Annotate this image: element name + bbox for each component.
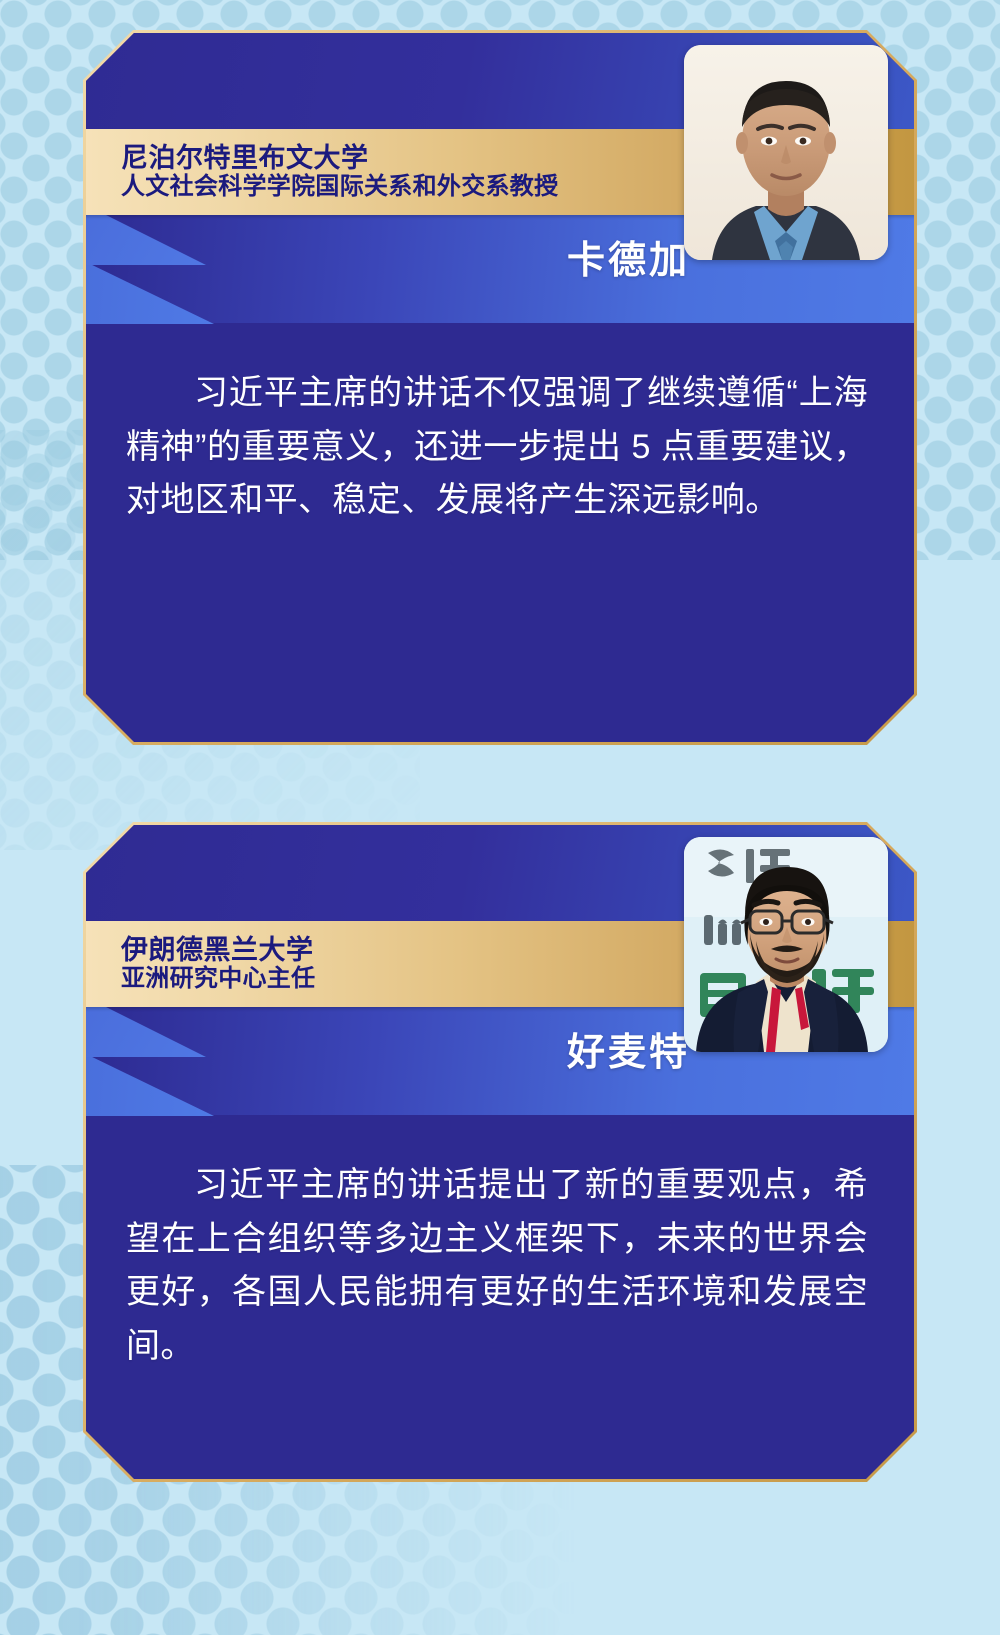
card-inner: 伊朗德黑兰大学 亚洲研究中心主任 好麦特 xyxy=(86,825,914,1479)
portrait-icon xyxy=(684,45,888,260)
portrait-photo-2 xyxy=(684,837,888,1052)
card-body-1: 习近平主席的讲话不仅强调了继续遵循“上海精神”的重要意义，还进一步提出 5 点重… xyxy=(86,323,914,528)
card-inner: 尼泊尔特里布文大学 人文社会科学学院国际关系和外交系教授 卡德加 xyxy=(86,33,914,742)
quote-card-1: 尼泊尔特里布文大学 人文社会科学学院国际关系和外交系教授 卡德加 xyxy=(83,30,917,745)
speaker-name: 好麦特 xyxy=(567,1021,690,1076)
card-body-2: 习近平主席的讲话提出了新的重要观点，希望在上合组织等多边主义框架下，未来的世界会… xyxy=(86,1115,914,1374)
quote-text: 习近平主席的讲话不仅强调了继续遵循“上海精神”的重要意义，还进一步提出 5 点重… xyxy=(126,367,868,528)
portrait-photo-1 xyxy=(684,45,888,260)
quote-card-2: 伊朗德黑兰大学 亚洲研究中心主任 好麦特 xyxy=(83,822,917,1482)
portrait-icon xyxy=(684,837,888,1052)
speaker-name: 卡德加 xyxy=(567,229,690,284)
quote-text: 习近平主席的讲话提出了新的重要观点，希望在上合组织等多边主义框架下，未来的世界会… xyxy=(126,1159,868,1374)
